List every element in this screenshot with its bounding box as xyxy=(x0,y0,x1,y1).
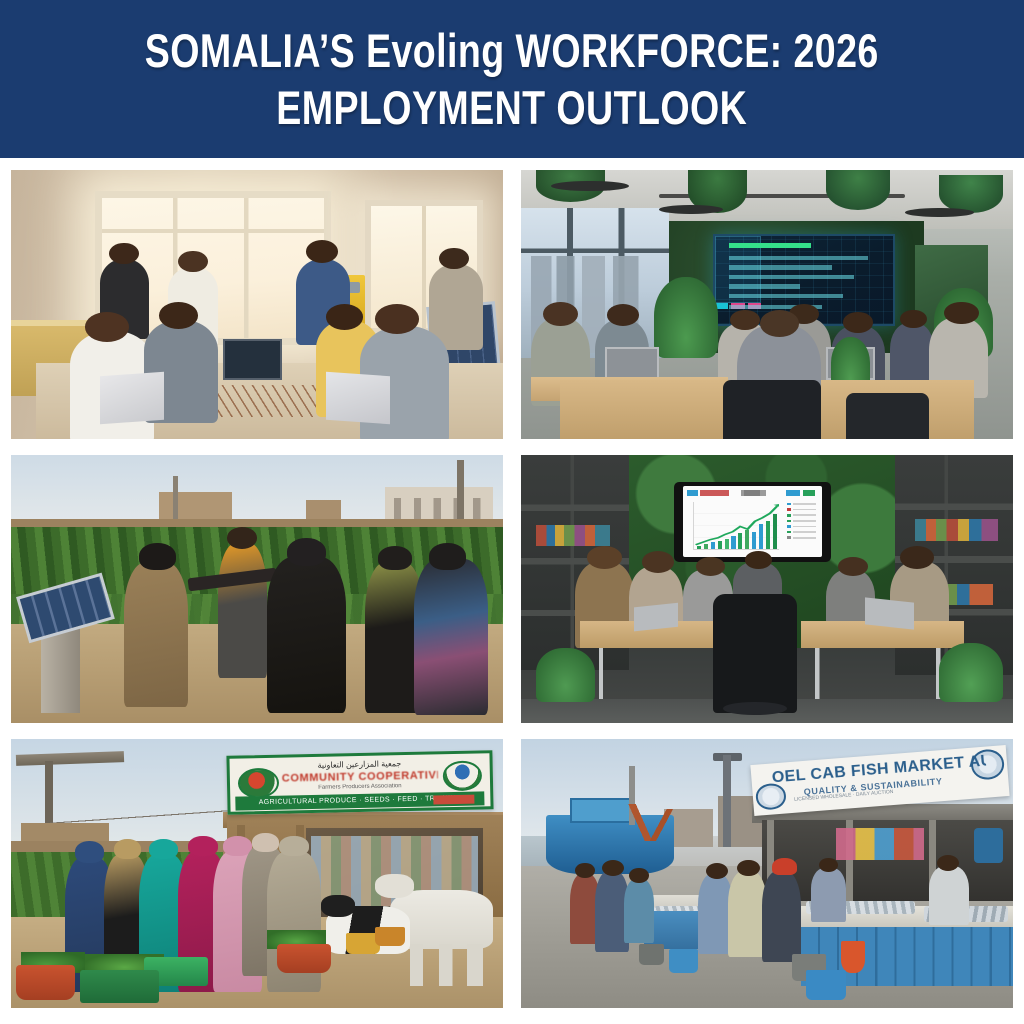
farmer-woman-head xyxy=(378,546,412,570)
bucket-blue xyxy=(669,949,699,973)
buyer-head xyxy=(706,863,728,879)
standing-student-2-head xyxy=(178,251,208,272)
dashboard-kpi-row xyxy=(729,275,854,279)
panel-agriculture-field-extension xyxy=(11,455,503,724)
potted-plant xyxy=(536,648,595,702)
dashboard-wall-screen[interactable] xyxy=(674,482,831,563)
dashboard-legend xyxy=(787,502,817,549)
legend-entry xyxy=(787,536,817,540)
chair-base xyxy=(723,702,787,715)
instructor-head xyxy=(306,240,338,263)
worker-head xyxy=(843,312,873,332)
page-title: SOMALIA’S Evoling WORKFORCE: 2026 EMPLOY… xyxy=(145,22,879,137)
worker-head xyxy=(730,310,760,330)
professional-head xyxy=(696,557,726,576)
lab-monitor xyxy=(223,339,282,379)
panel-technical-training-lab xyxy=(11,170,503,439)
hanging-banners xyxy=(836,828,925,860)
dashboard-trend-arrow xyxy=(694,502,779,549)
potted-plant xyxy=(939,643,1003,702)
floor-plant xyxy=(654,277,718,358)
office-chair-foreground xyxy=(713,594,797,712)
fisherman-head xyxy=(575,863,595,878)
buyer-head xyxy=(737,860,759,876)
weighing-scale xyxy=(974,828,1004,863)
office-chair xyxy=(723,380,821,439)
cooperative-logo-right-icon xyxy=(443,761,483,792)
cow-piebald-head xyxy=(321,895,355,916)
farmer-woman-figure xyxy=(414,559,488,715)
panel-rural-cooperative-market: جمعية المزارعين التعاونية COMMUNITY COOP… xyxy=(11,739,503,1008)
dashboard-heading xyxy=(741,490,766,496)
seated-student-2-head xyxy=(159,302,198,329)
cow-white-head xyxy=(375,874,414,898)
dashboard-kpi-row xyxy=(729,265,832,269)
dashboard-kpi-row xyxy=(729,243,811,247)
professional-head xyxy=(838,557,868,576)
professional-head xyxy=(642,551,674,572)
cooperative-member-head xyxy=(149,839,179,859)
buyer-figure xyxy=(762,871,801,962)
toolbar-chip xyxy=(687,490,697,496)
seated-student-1-head xyxy=(85,312,129,342)
books-row xyxy=(915,519,999,540)
photo-grid: جمعية المزارعين التعاونية COMMUNITY COOP… xyxy=(11,170,1013,1008)
panel-modern-coworking-office xyxy=(521,170,1013,439)
cooperative-logo-left-icon xyxy=(238,767,280,799)
seated-student-4-head xyxy=(375,304,419,334)
dashboard-plot-area xyxy=(693,502,779,550)
panel-coastal-fish-market: OEL CAB FISH MARKET AUTHORITY QUALITY & … xyxy=(521,739,1013,1008)
cooperative-member-head xyxy=(252,833,279,852)
professional-head xyxy=(587,546,621,569)
vendor-head xyxy=(937,855,959,871)
pendant-lamp-icon xyxy=(905,208,974,217)
toolbar-chip xyxy=(786,490,800,496)
buyer-red-cap-icon xyxy=(772,858,797,875)
produce-crate xyxy=(80,970,159,1002)
office-chair xyxy=(846,393,930,439)
cooperative-member-head xyxy=(114,839,141,859)
dashboard-kpi-row xyxy=(729,284,800,288)
vendor-figure xyxy=(811,868,845,922)
title-line-1: SOMALIA’S Evoling WORKFORCE: 2026 xyxy=(145,24,879,77)
extension-worker-head xyxy=(227,527,257,548)
cooperative-member-head xyxy=(188,836,218,856)
cooperative-member-head xyxy=(75,841,105,862)
professional-head xyxy=(900,546,934,569)
worker-figure xyxy=(890,323,934,387)
legend-entry xyxy=(787,524,817,528)
orange-bag xyxy=(841,941,866,973)
legend-entry xyxy=(787,530,817,534)
panel-green-office-data-review xyxy=(521,455,1013,724)
extension-worker-figure xyxy=(218,543,267,677)
laptop xyxy=(634,603,678,632)
buyer-figure xyxy=(728,871,767,957)
sign-accent-chip xyxy=(433,794,475,804)
dashboard-kpi-row xyxy=(729,256,868,260)
feed-bucket xyxy=(375,927,405,946)
books-row xyxy=(536,525,610,546)
poster-header: SOMALIA’S Evoling WORKFORCE: 2026 EMPLOY… xyxy=(0,0,1024,158)
fisherman-head xyxy=(629,868,649,883)
farmer-woman-head xyxy=(287,538,326,566)
boat-boom xyxy=(619,809,708,841)
farmer-woman-head xyxy=(429,543,466,570)
legend-entry xyxy=(787,502,817,506)
cooperative-signboard: جمعية المزارعين التعاونية COMMUNITY COOP… xyxy=(227,750,494,815)
bucket-grey xyxy=(639,944,664,965)
cow-white-legs xyxy=(410,944,484,987)
farmer-woman-head xyxy=(139,543,176,570)
toolbar-title-bar xyxy=(700,490,729,496)
dashboard-kpi-row xyxy=(729,294,843,298)
farmer-woman-figure xyxy=(124,562,188,707)
legend-entry xyxy=(787,508,817,512)
worker-head xyxy=(944,302,978,325)
laptop-right xyxy=(326,372,390,425)
floodlight-pole xyxy=(723,755,731,846)
professional-head xyxy=(745,551,772,568)
legend-entry xyxy=(787,513,817,517)
vendor-figure xyxy=(929,866,968,925)
worker-head xyxy=(543,302,577,326)
produce-basket xyxy=(16,965,75,1000)
title-line-2: EMPLOYMENT OUTLOOK xyxy=(145,79,879,136)
laptop-left xyxy=(100,372,164,425)
legend-entry xyxy=(787,519,817,523)
poster-canvas: SOMALIA’S Evoling WORKFORCE: 2026 EMPLOY… xyxy=(0,0,1024,1024)
foreground-person-head xyxy=(760,310,799,337)
laptop xyxy=(865,597,914,629)
fisherman-figure xyxy=(624,879,654,943)
seated-student-3-head xyxy=(326,304,363,330)
cooperative-member-head xyxy=(279,836,309,856)
dashboard-surface xyxy=(683,486,822,557)
bucket-blue xyxy=(806,970,845,1000)
produce-basket xyxy=(277,944,331,974)
technician-head xyxy=(439,248,469,269)
standing-student-1-head xyxy=(109,243,139,264)
worker-head xyxy=(607,304,639,325)
toolbar-chip xyxy=(803,490,815,496)
farmer-woman-figure xyxy=(267,557,346,713)
